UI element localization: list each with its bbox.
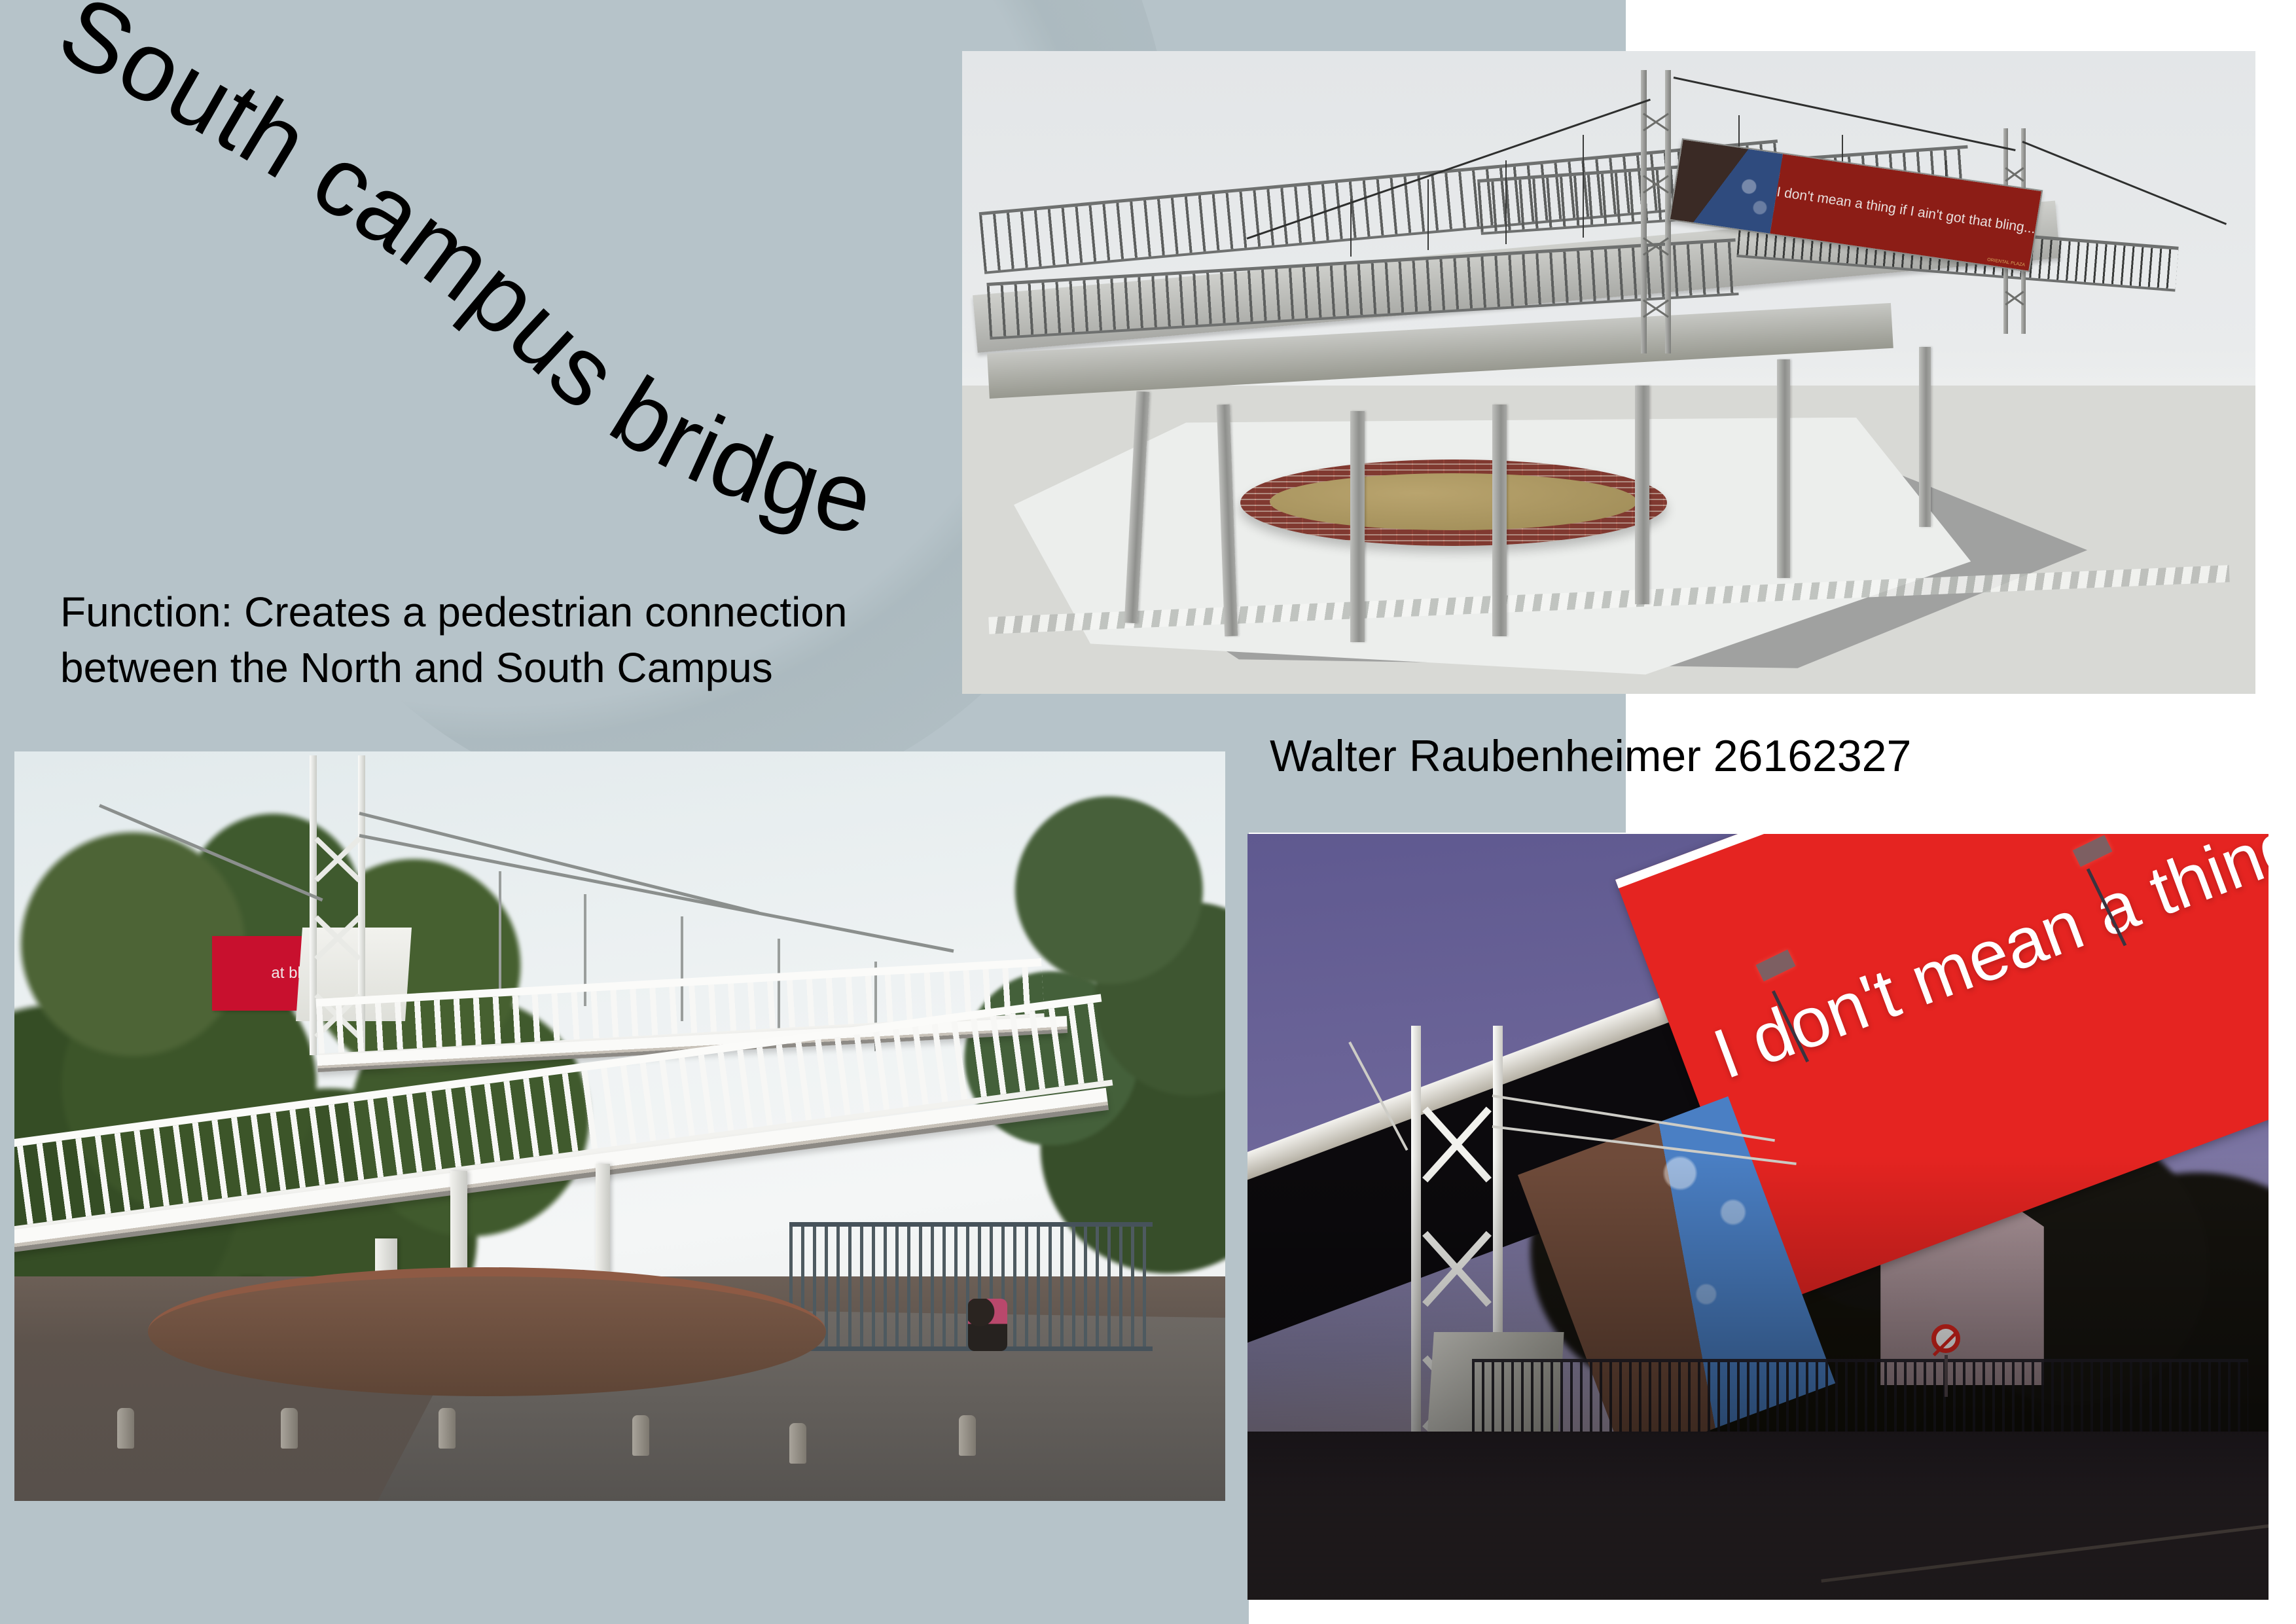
image-3d-render: I don't mean a thing if I ain't got that… [962,51,2255,694]
render-billboard-text: I don't mean a thing if I ain't got that… [1776,185,2037,238]
render-billboard-logo: ORIENTAL PLAZA [1986,258,2025,268]
day-bollard-1 [117,1408,134,1449]
render-hanger-3 [1505,160,1507,244]
day-bollard-3 [439,1408,456,1449]
day-pedestrians [968,1299,1007,1351]
render-cable-mid [1673,77,2015,151]
image-photo-daytime: at bling... [14,751,1225,1501]
no-bicycles-icon [1931,1324,1960,1353]
dusk-road [1247,1432,2269,1600]
day-hanger-1 [499,871,501,991]
render-pylon-main [1641,70,1671,353]
render-hanger-1 [1350,199,1352,257]
image-photo-dusk: I don't mean a thing if [1247,834,2269,1600]
render-hanger-2 [1427,179,1429,250]
render-column-7 [1919,347,1931,527]
planter-fill [1270,473,1637,530]
render-column-4 [1492,405,1507,636]
author-credit: Walter Raubenheimer 26162327 [1270,731,1911,782]
day-brick-planter [148,1267,826,1396]
render-column-3 [1350,411,1365,643]
render-hanger-4 [1583,135,1584,238]
day-bollard-5 [789,1423,806,1464]
render-column-5 [1635,386,1649,604]
render-brick-planter [1240,460,1667,547]
presentation-slide: South campus bridge Function: Creates a … [0,0,2296,1624]
dusk-sign-post [1945,1355,1948,1397]
day-bollard-4 [632,1415,649,1456]
day-bollard-6 [959,1415,976,1456]
render-billboard-photo [1670,139,1783,233]
day-bollard-2 [281,1408,298,1449]
function-description: Function: Creates a pedestrian connectio… [60,585,885,696]
render-column-6 [1777,359,1790,578]
